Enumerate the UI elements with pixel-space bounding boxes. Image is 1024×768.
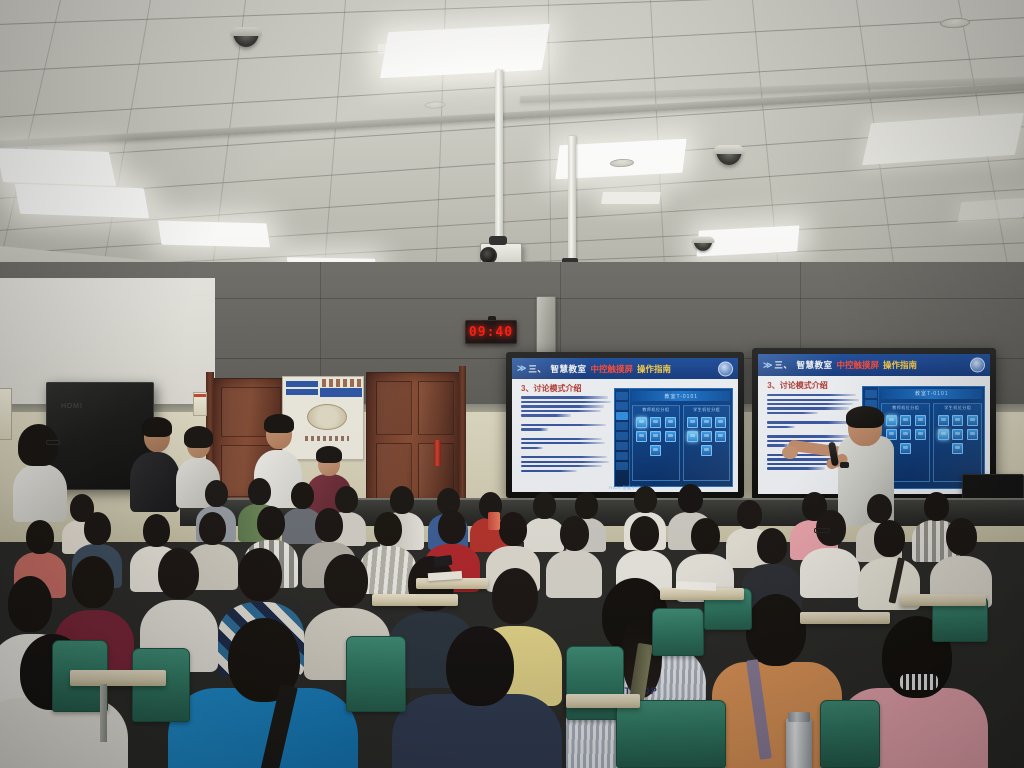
slide-header-seg2: 中控触摸屏	[590, 363, 633, 375]
slide-header-seg2: 中控触摸屏	[836, 359, 879, 371]
monitor-icon	[900, 443, 911, 454]
slide-text-column	[521, 396, 611, 474]
desk	[372, 594, 458, 606]
slide-header-seg1: 智慧教室	[796, 359, 832, 371]
chevron-right-icon: ≫	[763, 360, 770, 371]
side-nav-exit	[616, 462, 628, 470]
door-panel	[418, 381, 454, 435]
chair[interactable]	[346, 636, 406, 712]
monitor-icon	[938, 415, 949, 426]
zone-student-icons	[684, 414, 730, 459]
monitor-icon	[915, 429, 926, 440]
side-nav-item	[616, 442, 628, 450]
zone-student: 学生机位分组	[933, 403, 982, 482]
monitor-icon	[915, 415, 926, 426]
camera-mount-pole	[495, 70, 503, 248]
zone-teacher-label: 教师机位分组	[633, 407, 679, 413]
monitor-icon	[715, 417, 726, 428]
monitor-icon	[715, 431, 726, 442]
monitor-icon	[636, 417, 647, 428]
slide-subtitle: 3、讨论模式介绍	[521, 383, 581, 394]
monitor-icon	[701, 431, 712, 442]
slide-header-bar: ≫ 三、 智慧教室 中控触摸屏 操作指南	[758, 354, 990, 376]
slide-header-seg3: 操作指南	[637, 363, 671, 375]
door-frame-right	[459, 366, 466, 506]
door-panel	[376, 381, 412, 435]
wall-notice-far-left	[0, 388, 12, 440]
audience-member	[392, 632, 562, 768]
monitor-icon	[967, 429, 978, 440]
ceiling-light-panel	[0, 148, 116, 186]
touch-panel-zones: 教师机位分组	[632, 405, 730, 481]
side-nav-item	[616, 392, 628, 400]
audience-member	[800, 510, 860, 596]
eyeglasses-icon	[46, 440, 60, 445]
touch-panel-mockup: 教室T-0101 教师机位分组	[614, 388, 734, 487]
monitor-icon	[636, 431, 647, 442]
slide-subtitle: 3、讨论模式介绍	[767, 380, 827, 391]
monitor-icon	[650, 417, 661, 428]
digital-wall-clock: 09:40	[465, 320, 517, 344]
university-logo-icon	[970, 358, 985, 373]
touch-panel-main: 教室T-0101 教师机位分组	[630, 389, 732, 486]
zone-teacher-icons	[633, 414, 679, 459]
desk	[800, 612, 890, 624]
monitor-icon	[952, 443, 963, 454]
slide-part-label: 三、	[528, 363, 546, 375]
slide-body: 3、讨论模式介绍	[512, 379, 738, 492]
clock-time-display: 09:40	[469, 325, 513, 340]
desk	[566, 694, 640, 708]
side-nav-item	[865, 390, 877, 398]
hair-tie	[900, 674, 938, 690]
slide-header-bar: ≫ 三、 智慧教室 中控触摸屏 操作指南	[512, 358, 738, 379]
slide-header-seg1: 智慧教室	[550, 363, 586, 375]
slide-header-seg3: 操作指南	[883, 359, 917, 371]
side-nav-item	[616, 452, 628, 460]
university-logo-icon	[718, 361, 733, 376]
plaque-blue-banner	[320, 388, 362, 397]
side-nav-item-active	[616, 412, 628, 420]
wall-speaker	[536, 296, 556, 354]
ceiling-light-panel	[601, 192, 661, 204]
classroom-photo-scene: 09:40 HDMI ≫ 三、 智慧教室 中控触摸屏 操作	[0, 0, 1024, 768]
plaque-blue-banner	[286, 381, 318, 387]
eyeglasses-icon	[814, 528, 830, 533]
ceiling-light-panel	[158, 221, 270, 248]
side-nav-item	[616, 422, 628, 430]
chair[interactable]	[820, 700, 880, 768]
audience-member	[930, 518, 992, 606]
zone-student-icons	[934, 412, 981, 457]
plaque-seal-graphic	[307, 404, 347, 430]
zone-teacher: 教师机位分组	[632, 405, 680, 481]
desk-leg	[100, 684, 107, 742]
monitor-icon	[967, 415, 978, 426]
thermos-cap	[788, 712, 810, 722]
zone-student-label: 学生机位分组	[934, 405, 981, 411]
side-nav-item	[616, 432, 628, 440]
notice-accent-strip	[194, 394, 206, 397]
monitor-icon	[952, 429, 963, 440]
fire-extinguisher	[434, 440, 441, 466]
audience-member	[168, 622, 358, 768]
display-left-screen: ≫ 三、 智慧教室 中控触摸屏 操作指南 3、讨论模式介绍	[512, 358, 738, 492]
touch-panel-room-code: 教室T-0101	[632, 391, 730, 401]
touch-panel-side-nav	[615, 389, 630, 486]
desk	[70, 670, 166, 686]
monitor-icon	[665, 417, 676, 428]
monitor-icon	[701, 417, 712, 428]
side-nav-item	[616, 402, 628, 410]
monitor-icon	[665, 431, 676, 442]
chair[interactable]	[652, 608, 704, 656]
chevron-right-icon: ≫	[517, 363, 524, 374]
desk	[900, 594, 986, 606]
monitor-icon	[687, 417, 698, 428]
attendee-standing	[128, 418, 182, 510]
zone-student-label: 学生机位分组	[684, 407, 730, 413]
plaque-title-text	[322, 379, 362, 387]
chair[interactable]	[616, 700, 726, 768]
ceiling	[0, 0, 1024, 300]
plaque-footer-text	[305, 436, 349, 441]
water-cup	[488, 512, 500, 530]
display-left[interactable]: ≫ 三、 智慧教室 中控触摸屏 操作指南 3、讨论模式介绍	[506, 352, 744, 498]
projector-mount-pole	[568, 136, 576, 268]
attendee-standing	[12, 424, 68, 520]
monitor-icon	[900, 415, 911, 426]
monitor-icon	[952, 415, 963, 426]
zone-student: 学生机位分组	[683, 405, 731, 481]
ceiling-light-panel	[378, 44, 528, 54]
monitor-icon	[650, 445, 661, 456]
monitor-icon	[900, 429, 911, 440]
thermos-bottle[interactable]	[786, 718, 812, 768]
monitor-icon	[701, 445, 712, 456]
touch-panel-room-code: 教室T-0101	[881, 389, 982, 399]
monitor-icon	[650, 431, 661, 442]
plaque-blue-banner	[286, 389, 318, 395]
slide-part-label: 三、	[774, 359, 792, 371]
ceiling-light-panel	[15, 184, 149, 218]
desk	[416, 578, 488, 589]
monitor-icon	[938, 429, 949, 440]
monitor-icon	[687, 431, 698, 442]
camera-bracket	[489, 236, 507, 245]
cabinet-label: HDMI	[61, 403, 83, 410]
